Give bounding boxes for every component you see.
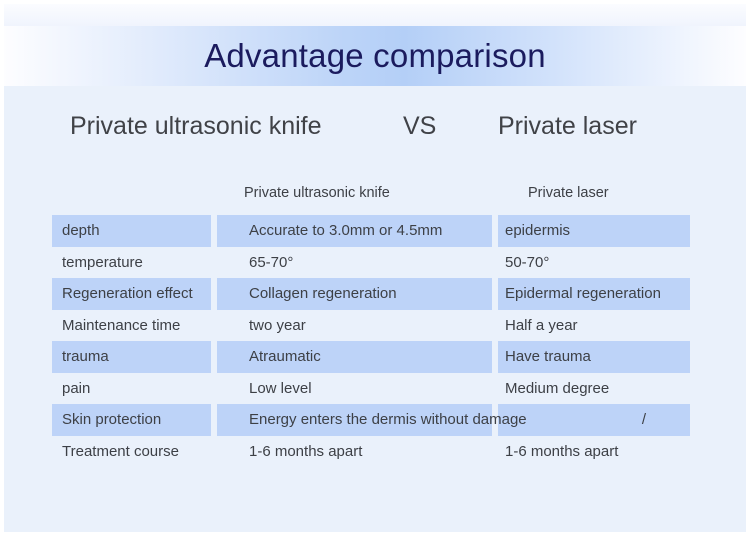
table-row: Regeneration effect Collagen regeneratio… — [4, 278, 746, 310]
column-header-laser: Private laser — [528, 180, 609, 206]
table-row: Treatment course 1-6 months apart 1-6 mo… — [4, 436, 746, 468]
header-top-fade — [4, 4, 746, 26]
row-value-ultrasonic: Energy enters the dermis without damage — [217, 404, 492, 436]
row-value-laser: / — [498, 404, 690, 436]
row-value-ultrasonic: Low level — [217, 373, 492, 405]
table-row: pain Low level Medium degree — [4, 373, 746, 405]
row-value-laser: Half a year — [498, 310, 690, 342]
row-label: Treatment course — [52, 436, 211, 468]
row-label: trauma — [52, 341, 211, 373]
row-value-laser: Have trauma — [498, 341, 690, 373]
row-label: temperature — [52, 247, 211, 279]
row-value-ultrasonic: 1-6 months apart — [217, 436, 492, 468]
headline-product-left: Private ultrasonic knife — [70, 104, 322, 148]
row-value-ultrasonic: Collagen regeneration — [217, 278, 492, 310]
column-header-ultrasonic: Private ultrasonic knife — [244, 180, 390, 206]
row-value-laser: epidermis — [498, 215, 690, 247]
row-value-laser: 1-6 months apart — [498, 436, 690, 468]
page-title: Advantage comparison — [4, 26, 746, 86]
row-label: Regeneration effect — [52, 278, 211, 310]
row-value-laser: Medium degree — [498, 373, 690, 405]
table-row: trauma Atraumatic Have trauma — [4, 341, 746, 373]
row-label: Maintenance time — [52, 310, 211, 342]
headline-row: Private ultrasonic knife VS Private lase… — [4, 104, 746, 148]
row-value-ultrasonic: Atraumatic — [217, 341, 492, 373]
row-value-laser: 50-70° — [498, 247, 690, 279]
comparison-table: depth Accurate to 3.0mm or 4.5mm epiderm… — [4, 215, 746, 467]
table-row: Skin protection / Energy enters the derm… — [4, 404, 746, 436]
row-value-ultrasonic: two year — [217, 310, 492, 342]
table-column-headers: Private ultrasonic knife Private laser — [4, 180, 746, 206]
row-value-ultrasonic-text: Energy enters the dermis without damage — [249, 411, 527, 428]
headline-product-right: Private laser — [498, 104, 637, 148]
row-label: pain — [52, 373, 211, 405]
table-row: Maintenance time two year Half a year — [4, 310, 746, 342]
comparison-poster: Advantage comparison Private ultrasonic … — [4, 4, 746, 532]
headline-vs-label: VS — [403, 104, 436, 148]
row-value-ultrasonic: 65-70° — [217, 247, 492, 279]
row-label: depth — [52, 215, 211, 247]
table-row: depth Accurate to 3.0mm or 4.5mm epiderm… — [4, 215, 746, 247]
table-row: temperature 65-70° 50-70° — [4, 247, 746, 279]
row-label: Skin protection — [52, 404, 211, 436]
row-value-ultrasonic: Accurate to 3.0mm or 4.5mm — [217, 215, 492, 247]
row-value-laser: Epidermal regeneration — [498, 278, 690, 310]
